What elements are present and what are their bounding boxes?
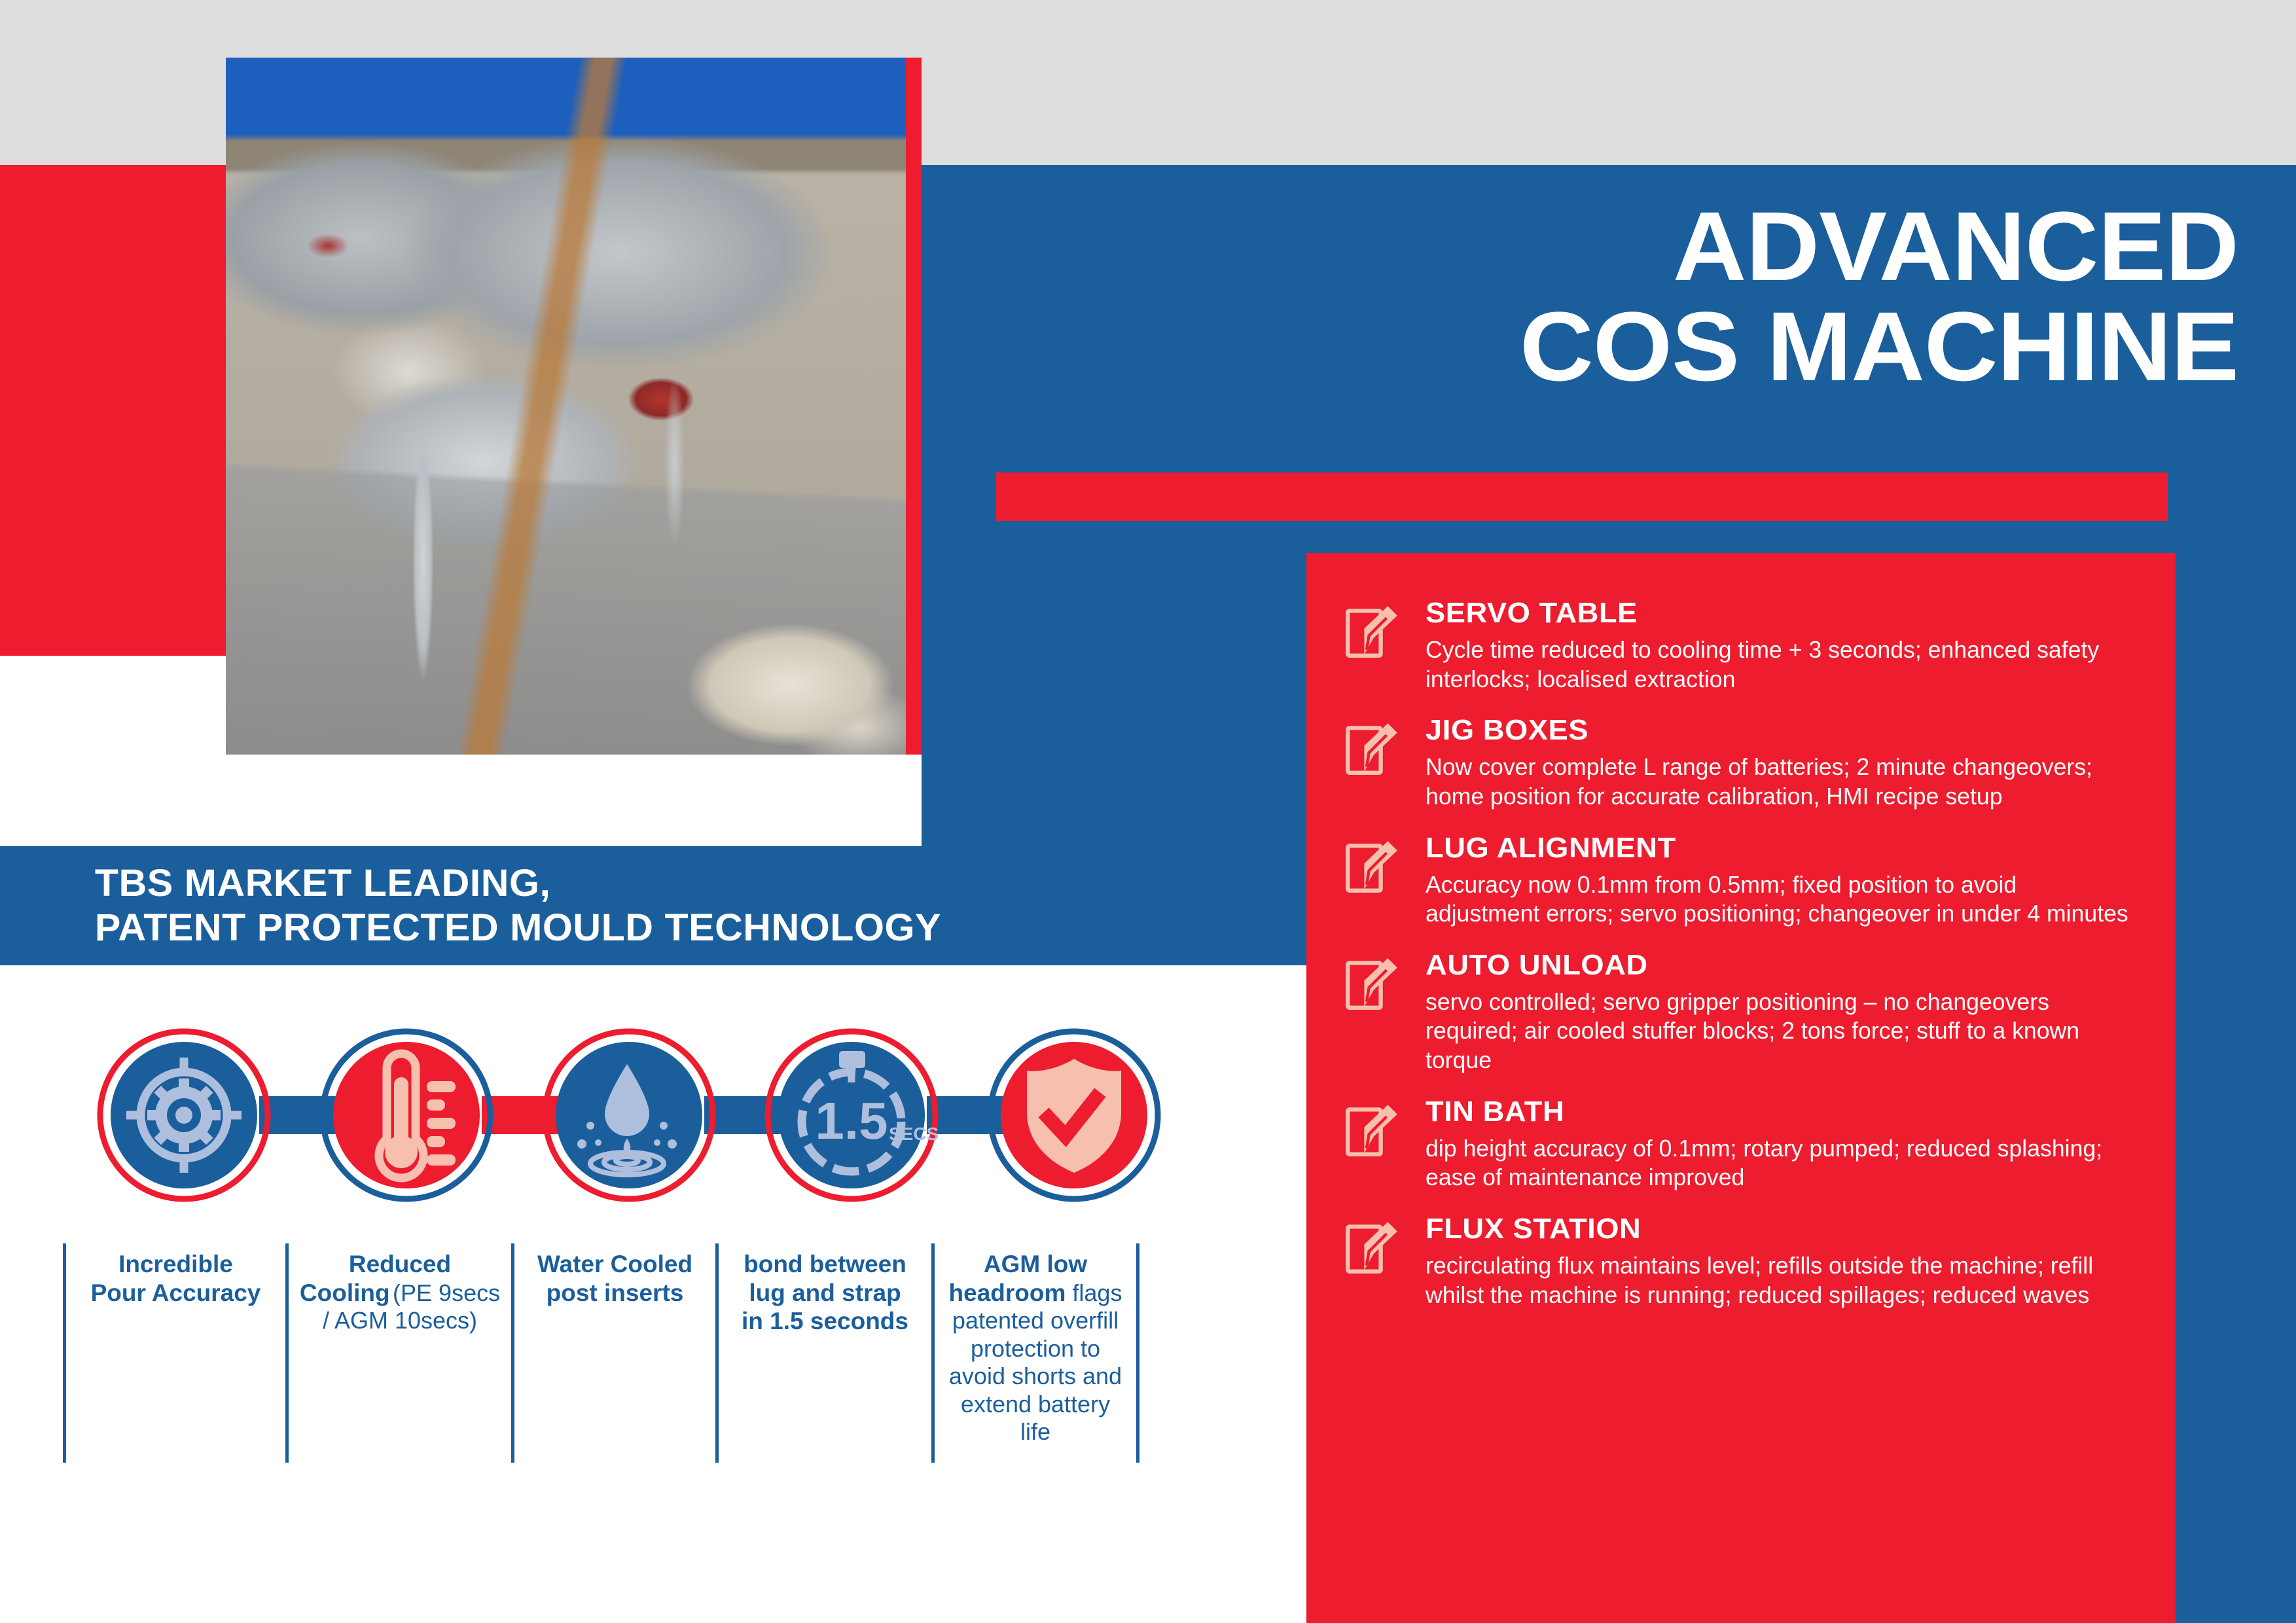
feature-item: FLUX STATION recirculating flux maintain… xyxy=(1343,1215,2139,1310)
page-title-line1: ADVANCED xyxy=(1673,191,2238,301)
feature-description: Cycle time reduced to cooling time + 3 s… xyxy=(1426,635,2132,694)
benefit-circle-2 xyxy=(323,1031,490,1199)
document-pencil-icon xyxy=(1343,1097,1402,1159)
document-pencil-icon xyxy=(1343,716,1402,777)
benefit-captions: IncrediblePour Accuracy ReducedCooling (… xyxy=(63,1243,1241,1463)
product-photo xyxy=(226,58,922,755)
feature-description: recirculating flux maintains level; refi… xyxy=(1426,1251,2132,1310)
benefit-circle-4: 1.5 SECS xyxy=(768,1031,939,1199)
document-pencil-icon xyxy=(1343,1215,1402,1276)
feature-description: servo controlled; servo gripper position… xyxy=(1426,988,2132,1075)
title-underline-rule xyxy=(996,473,2168,521)
feature-title: JIG BOXES xyxy=(1426,716,2161,745)
benefit-caption: IncrediblePour Accuracy xyxy=(63,1243,285,1463)
section-banner-line1: TBS MARKET LEADING, xyxy=(95,862,551,904)
benefit-circle-3 xyxy=(545,1031,713,1199)
feature-title: LUG ALIGNMENT xyxy=(1426,834,2161,863)
benefit-caption-strong: IncrediblePour Accuracy xyxy=(91,1251,261,1306)
document-pencil-icon xyxy=(1343,599,1402,660)
feature-description: Accuracy now 0.1mm from 0.5mm; fixed pos… xyxy=(1426,870,2132,929)
benefit-caption-strong: Water Cooledpost inserts xyxy=(537,1251,692,1306)
benefit-circle-5 xyxy=(990,1031,1158,1199)
feature-description: Now cover complete L range of batteries;… xyxy=(1426,753,2132,811)
feature-title: FLUX STATION xyxy=(1426,1215,2161,1243)
section-banner-text: TBS MARKET LEADING, PATENT PROTECTED MOU… xyxy=(0,861,941,951)
feature-item: TIN BATH dip height accuracy of 0.1mm; r… xyxy=(1343,1097,2139,1192)
feature-title: AUTO UNLOAD xyxy=(1426,951,2161,980)
page-title-line2: COS MACHINE xyxy=(945,296,2238,397)
benefit-caption: ReducedCooling (PE 9secs / AGM 10secs) xyxy=(285,1243,511,1463)
feature-title: SERVO TABLE xyxy=(1426,599,2161,628)
feature-description: dip height accuracy of 0.1mm; rotary pum… xyxy=(1426,1134,2132,1192)
benefit-chain: 1.5 SECS xyxy=(63,1027,1228,1204)
feature-panel: SERVO TABLE Cycle time reduced to coolin… xyxy=(1306,553,2176,1623)
benefit-caption: AGM lowheadroom flags patented overfill … xyxy=(931,1243,1139,1463)
benefit-circle-1 xyxy=(100,1031,268,1199)
feature-item: LUG ALIGNMENT Accuracy now 0.1mm from 0.… xyxy=(1343,834,2139,929)
benefit-caption-strong: bond betweenlug and strapin 1.5 seconds xyxy=(742,1251,908,1334)
feature-item: AUTO UNLOAD servo controlled; servo grip… xyxy=(1343,951,2139,1075)
document-pencil-icon xyxy=(1343,834,1402,895)
feature-item: JIG BOXES Now cover complete L range of … xyxy=(1343,716,2139,811)
product-photo-image xyxy=(226,58,906,755)
feature-title: TIN BATH xyxy=(1426,1097,2161,1126)
benefit-caption: Water Cooledpost inserts xyxy=(511,1243,715,1463)
section-banner: TBS MARKET LEADING, PATENT PROTECTED MOU… xyxy=(0,846,1313,965)
section-banner-line2: PATENT PROTECTED MOULD TECHNOLOGY xyxy=(95,906,941,950)
document-pencil-icon xyxy=(1343,951,1402,1012)
feature-item: SERVO TABLE Cycle time reduced to coolin… xyxy=(1343,599,2139,694)
page-title: ADVANCED COS MACHINE xyxy=(945,196,2238,397)
stopwatch-value: 1.5 xyxy=(815,1092,888,1150)
benefit-caption: bond betweenlug and strapin 1.5 seconds xyxy=(715,1243,931,1463)
stopwatch-unit: SECS xyxy=(889,1124,939,1144)
